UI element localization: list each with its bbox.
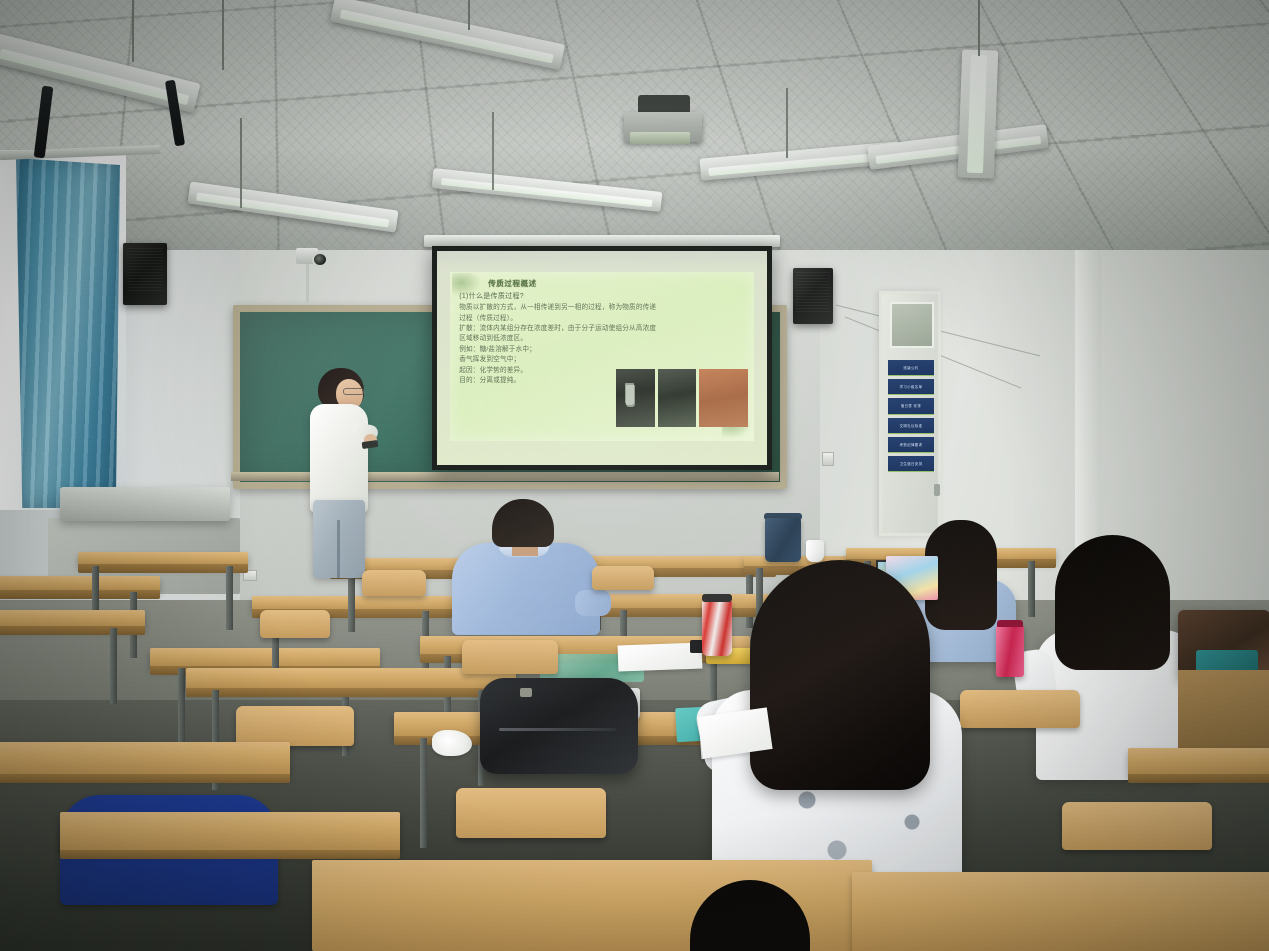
- desk-surface: [150, 648, 380, 668]
- beaker-shape: [626, 385, 635, 407]
- chair[interactable]: [456, 788, 606, 838]
- projector-lens: [630, 132, 690, 144]
- door-handle[interactable]: [934, 484, 940, 496]
- slide-line: 香气挥发到空气中；: [459, 355, 746, 364]
- desk: [0, 610, 145, 628]
- desk-edge: [1128, 774, 1269, 783]
- notice-row: 班级公约: [888, 360, 934, 376]
- white-paper-cup: [806, 540, 824, 562]
- crumpled-tissue: [432, 730, 472, 756]
- observer-hair: [1055, 535, 1170, 670]
- chair-back: [456, 788, 606, 838]
- chair[interactable]: [236, 706, 354, 746]
- desk-leg: [110, 628, 117, 704]
- door-notice-board: 班级公约 学习小组名单 值日表 安排 文明礼仪标准 考勤纪律要求 卫生值日安排: [888, 360, 934, 472]
- light-suspension-rod: [786, 88, 788, 158]
- desk-edge: [186, 688, 516, 697]
- desk-surface: [1128, 748, 1269, 776]
- desk: [0, 576, 160, 592]
- chair-back: [362, 570, 426, 596]
- desk: [0, 742, 290, 776]
- chair[interactable]: [362, 570, 426, 596]
- chair[interactable]: [260, 610, 330, 638]
- desk-surface: [852, 872, 1269, 951]
- slide-line: 过程（传质过程）。: [459, 314, 746, 323]
- chair[interactable]: [960, 690, 1080, 728]
- desk: [852, 872, 1269, 951]
- blue-kettle: [765, 518, 801, 562]
- pink-tumbler: [996, 625, 1024, 677]
- notice-row: 卫生值日安排: [888, 456, 934, 472]
- desk-surface: [60, 812, 400, 852]
- man-arm: [575, 590, 611, 616]
- desk-edge: [60, 850, 400, 859]
- slide-line: 区域移动到低浓度区。: [459, 334, 746, 343]
- teacher-blouse: [310, 404, 368, 512]
- chair-back: [462, 640, 558, 674]
- light-suspension-rod: [978, 0, 980, 56]
- light-tube-glow: [967, 55, 987, 173]
- camera-lens-icon: [312, 252, 328, 267]
- slide-question: (1)什么是传质过程?: [459, 291, 746, 301]
- chair[interactable]: [462, 640, 558, 674]
- classroom-door[interactable]: 班级公约 学习小组名单 值日表 安排 文明礼仪标准 考勤纪律要求 卫生值日安排: [879, 291, 941, 536]
- wall-speaker-left: [123, 243, 167, 305]
- curtain-folds: [16, 158, 120, 508]
- desk: [60, 812, 400, 852]
- chair-back: [260, 610, 330, 638]
- notice-row: 值日表 安排: [888, 398, 934, 414]
- slide-image-strip: [616, 369, 748, 427]
- slide-line: 扩散：流体内某组分存在浓度差时，由于分子运动使组分从高浓度: [459, 324, 746, 333]
- desk-edge: [0, 774, 290, 783]
- door-window-pane: [890, 302, 934, 348]
- back-bench: [1178, 670, 1269, 750]
- classroom-photo: 传质过程概述 (1)什么是传质过程? 物质以扩散的方式，从一相传递到另一相的过程…: [0, 0, 1269, 951]
- desk: [78, 552, 248, 566]
- chair[interactable]: [592, 566, 654, 590]
- desk: [150, 648, 380, 668]
- black-backpack: [480, 678, 638, 774]
- backpack-buckle: [520, 688, 532, 697]
- speaker-grill: [127, 248, 164, 293]
- slide-title: 传质过程概述: [488, 278, 746, 289]
- light-suspension-rod: [492, 112, 494, 190]
- backpack-zipper: [499, 728, 616, 731]
- slide-line: 物质以扩散的方式，从一相传递到另一相的过程，称为物质的传递: [459, 303, 746, 312]
- chair-back: [1062, 802, 1212, 850]
- camera-mount-pole: [306, 258, 309, 302]
- desk-edge: [78, 564, 248, 573]
- slide-image-lab-photo-1: [616, 369, 655, 427]
- teacher-podium: [60, 487, 230, 521]
- slide-line: 例如：糖/盐溶解于水中；: [459, 345, 746, 354]
- chair-back: [592, 566, 654, 590]
- presentation-slide: 传质过程概述 (1)什么是传质过程? 物质以扩散的方式，从一相传递到另一相的过程…: [450, 272, 754, 441]
- desk-leg: [226, 566, 233, 630]
- notice-row: 文明礼仪标准: [888, 418, 934, 434]
- fluorescent-light: [958, 49, 998, 178]
- light-suspension-rod: [132, 0, 134, 62]
- red-takeaway-cup: [702, 600, 732, 656]
- desk-leg: [420, 738, 427, 848]
- window-curtain[interactable]: [16, 158, 120, 508]
- chair[interactable]: [1062, 802, 1212, 850]
- slide-image-lab-photo-2: [658, 369, 697, 427]
- desk-surface: [0, 742, 290, 776]
- wall-speaker-right: [793, 268, 833, 324]
- desk-leg: [1028, 561, 1035, 617]
- desk: [1128, 748, 1269, 776]
- speaker-grill: [796, 272, 830, 312]
- teacher-trousers: [313, 500, 365, 578]
- notice-row: 考勤纪律要求: [888, 437, 934, 453]
- light-suspension-rod: [222, 0, 224, 70]
- slide-leaf-decoration: [452, 273, 482, 297]
- notice-row: 学习小组名单: [888, 379, 934, 395]
- glasses-icon: [343, 388, 364, 395]
- screen-surface: 传质过程概述 (1)什么是传质过程? 物质以扩散的方式，从一相传递到另一相的过程…: [437, 251, 767, 465]
- light-suspension-rod: [240, 118, 242, 208]
- desk-leg: [348, 572, 355, 632]
- desk-edge: [0, 626, 145, 635]
- chair-back: [236, 706, 354, 746]
- woman-hair: [750, 560, 930, 790]
- power-outlet[interactable]: [822, 452, 834, 466]
- chair-back: [960, 690, 1080, 728]
- light-suspension-rod: [468, 0, 470, 30]
- slide-image-lab-illustration: [699, 369, 747, 427]
- projection-screen: 传质过程概述 (1)什么是传质过程? 物质以扩散的方式，从一相传递到另一相的过程…: [432, 246, 772, 470]
